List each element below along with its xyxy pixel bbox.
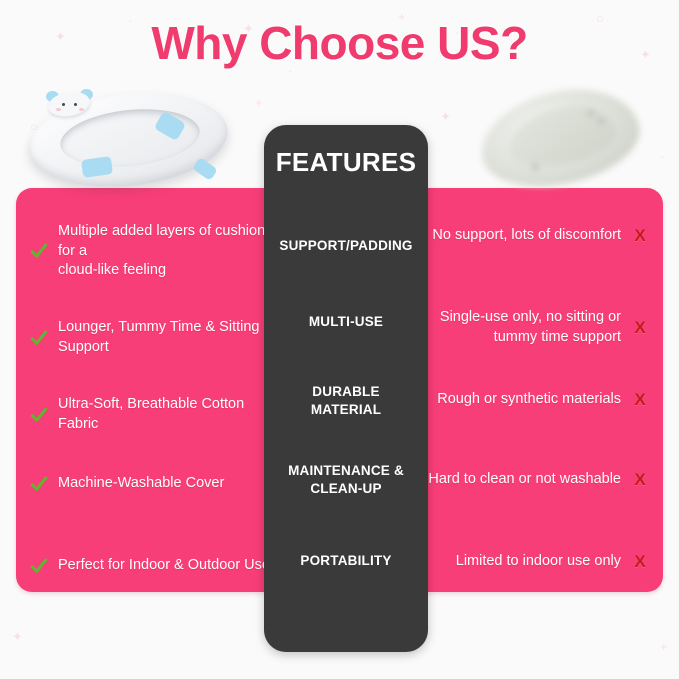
theirs-row-5: Limited to indoor use only X xyxy=(399,552,649,572)
lounger-clip-three xyxy=(192,157,218,181)
features-heading: FEATURES xyxy=(264,147,428,178)
lounger-blush-right xyxy=(79,108,84,111)
lounger-eye-left xyxy=(62,103,65,106)
feature-label-maintenance-cleanup: MAINTENANCE & CLEAN-UP xyxy=(272,462,420,498)
feature-label-durable-material: DURABLE MATERIAL xyxy=(272,383,420,419)
features-column: FEATURES SUPPORT/PADDING MULTI-USE DURAB… xyxy=(264,125,428,652)
theirs-row-1: No support, lots of discomfort X xyxy=(399,226,649,246)
theirs-item-label: Rough or synthetic materials xyxy=(437,390,621,410)
product-image-theirs xyxy=(470,84,650,194)
theirs-item-label: Single-use only, no sitting or tummy tim… xyxy=(399,308,621,347)
x-icon: X xyxy=(631,227,649,244)
theirs-row-3: Rough or synthetic materials X xyxy=(399,390,649,410)
lounger-blush-left xyxy=(56,108,61,111)
x-icon: X xyxy=(631,553,649,570)
page-title: Why Choose US? xyxy=(0,16,679,70)
feature-label-support-padding: SUPPORT/PADDING xyxy=(272,237,420,255)
theirs-row-2: Single-use only, no sitting or tummy tim… xyxy=(399,308,649,347)
page-title-text: Why Choose US? xyxy=(0,16,679,70)
pod-detail-three xyxy=(532,164,538,170)
x-icon: X xyxy=(631,391,649,408)
x-icon: X xyxy=(631,319,649,336)
theirs-row-4: Hard to clean or not washable X xyxy=(399,470,649,490)
theirs-item-label: Limited to indoor use only xyxy=(456,552,621,572)
feature-label-portability: PORTABILITY xyxy=(272,552,420,570)
theirs-item-label: Hard to clean or not washable xyxy=(428,470,621,490)
pod-detail-one xyxy=(588,110,594,116)
lounger-eye-right xyxy=(74,103,77,106)
theirs-item-label: No support, lots of discomfort xyxy=(432,226,621,246)
product-image-ours xyxy=(22,86,237,191)
pod-detail-two xyxy=(598,118,604,124)
x-icon: X xyxy=(631,471,649,488)
feature-label-multi-use: MULTI-USE xyxy=(272,313,420,331)
